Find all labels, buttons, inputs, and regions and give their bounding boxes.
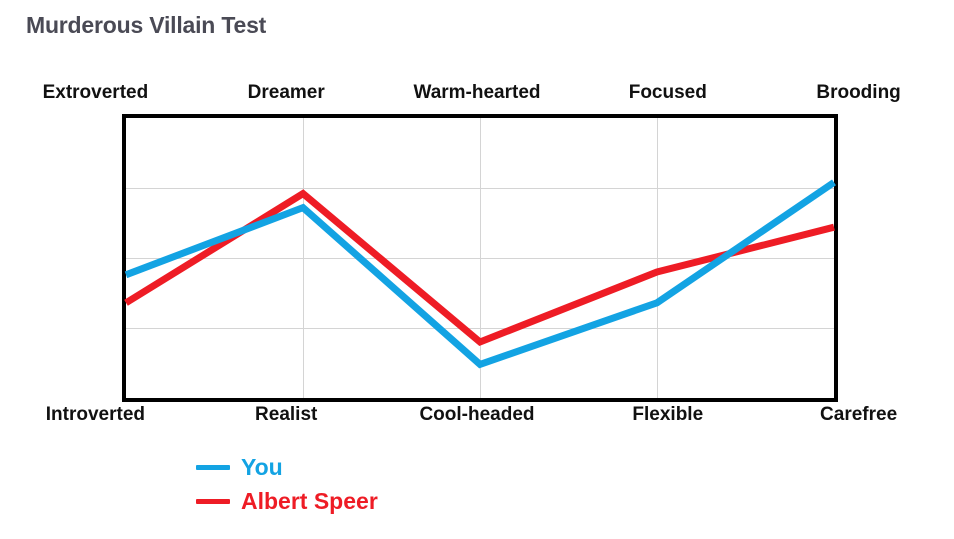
legend-label: Albert Speer xyxy=(241,488,378,515)
series-line-albert-speer xyxy=(126,194,834,342)
top-axis-label-dreamer: Dreamer xyxy=(191,80,382,106)
bottom-axis-label-row: Introverted Realist Cool-headed Flexible… xyxy=(0,402,954,428)
top-axis-label-extroverted: Extroverted xyxy=(0,80,191,106)
legend-item-you[interactable]: You xyxy=(196,452,378,482)
plot-inner xyxy=(126,118,834,398)
chart-legend: You Albert Speer xyxy=(196,452,378,516)
top-axis-label-brooding: Brooding xyxy=(763,80,954,106)
top-axis-label-focused: Focused xyxy=(572,80,763,106)
chart-title: Murderous Villain Test xyxy=(26,12,266,39)
bottom-axis-label-introverted: Introverted xyxy=(0,402,191,428)
legend-label: You xyxy=(241,454,283,481)
top-axis-label-row: Extroverted Dreamer Warm-hearted Focused… xyxy=(0,80,954,106)
bottom-axis-label-carefree: Carefree xyxy=(763,402,954,428)
series-plot xyxy=(126,118,834,398)
plot-area xyxy=(122,114,838,402)
series-line-you xyxy=(126,182,834,364)
legend-item-albert-speer[interactable]: Albert Speer xyxy=(196,486,378,516)
line-swatch-icon xyxy=(196,499,230,504)
top-axis-label-warm-hearted: Warm-hearted xyxy=(382,80,573,106)
bottom-axis-label-flexible: Flexible xyxy=(572,402,763,428)
bottom-axis-label-realist: Realist xyxy=(191,402,382,428)
chart-container: Murderous Villain Test Extroverted Dream… xyxy=(0,0,954,539)
line-swatch-icon xyxy=(196,465,230,470)
bottom-axis-label-cool-headed: Cool-headed xyxy=(382,402,573,428)
